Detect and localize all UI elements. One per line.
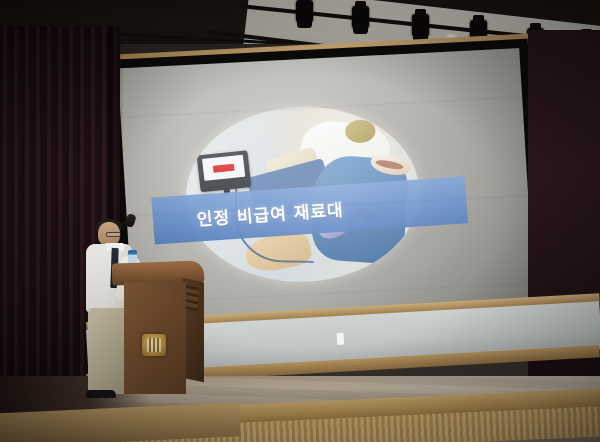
photo-medical-monitor [196, 151, 251, 193]
stage-spotlight-icon [296, 0, 313, 24]
photo-monitor-readout [213, 164, 235, 174]
slide-title-text: 인정 비급여 재료대 [196, 196, 345, 231]
stage-spotlight-icon [352, 6, 369, 30]
stage-spotlight-icon [412, 14, 429, 38]
photo-monitor-screen [202, 155, 245, 181]
wall-switch-icon [337, 333, 345, 345]
wooden-podium [118, 262, 196, 392]
auditorium-scene: 인정 비급여 재료대 잠실 홍지내과 이건호 [0, 0, 600, 442]
eyeglasses-icon [106, 232, 121, 237]
podium-slats [184, 285, 198, 312]
presenter-shoe [86, 390, 116, 398]
institution-crest-icon [142, 334, 166, 356]
